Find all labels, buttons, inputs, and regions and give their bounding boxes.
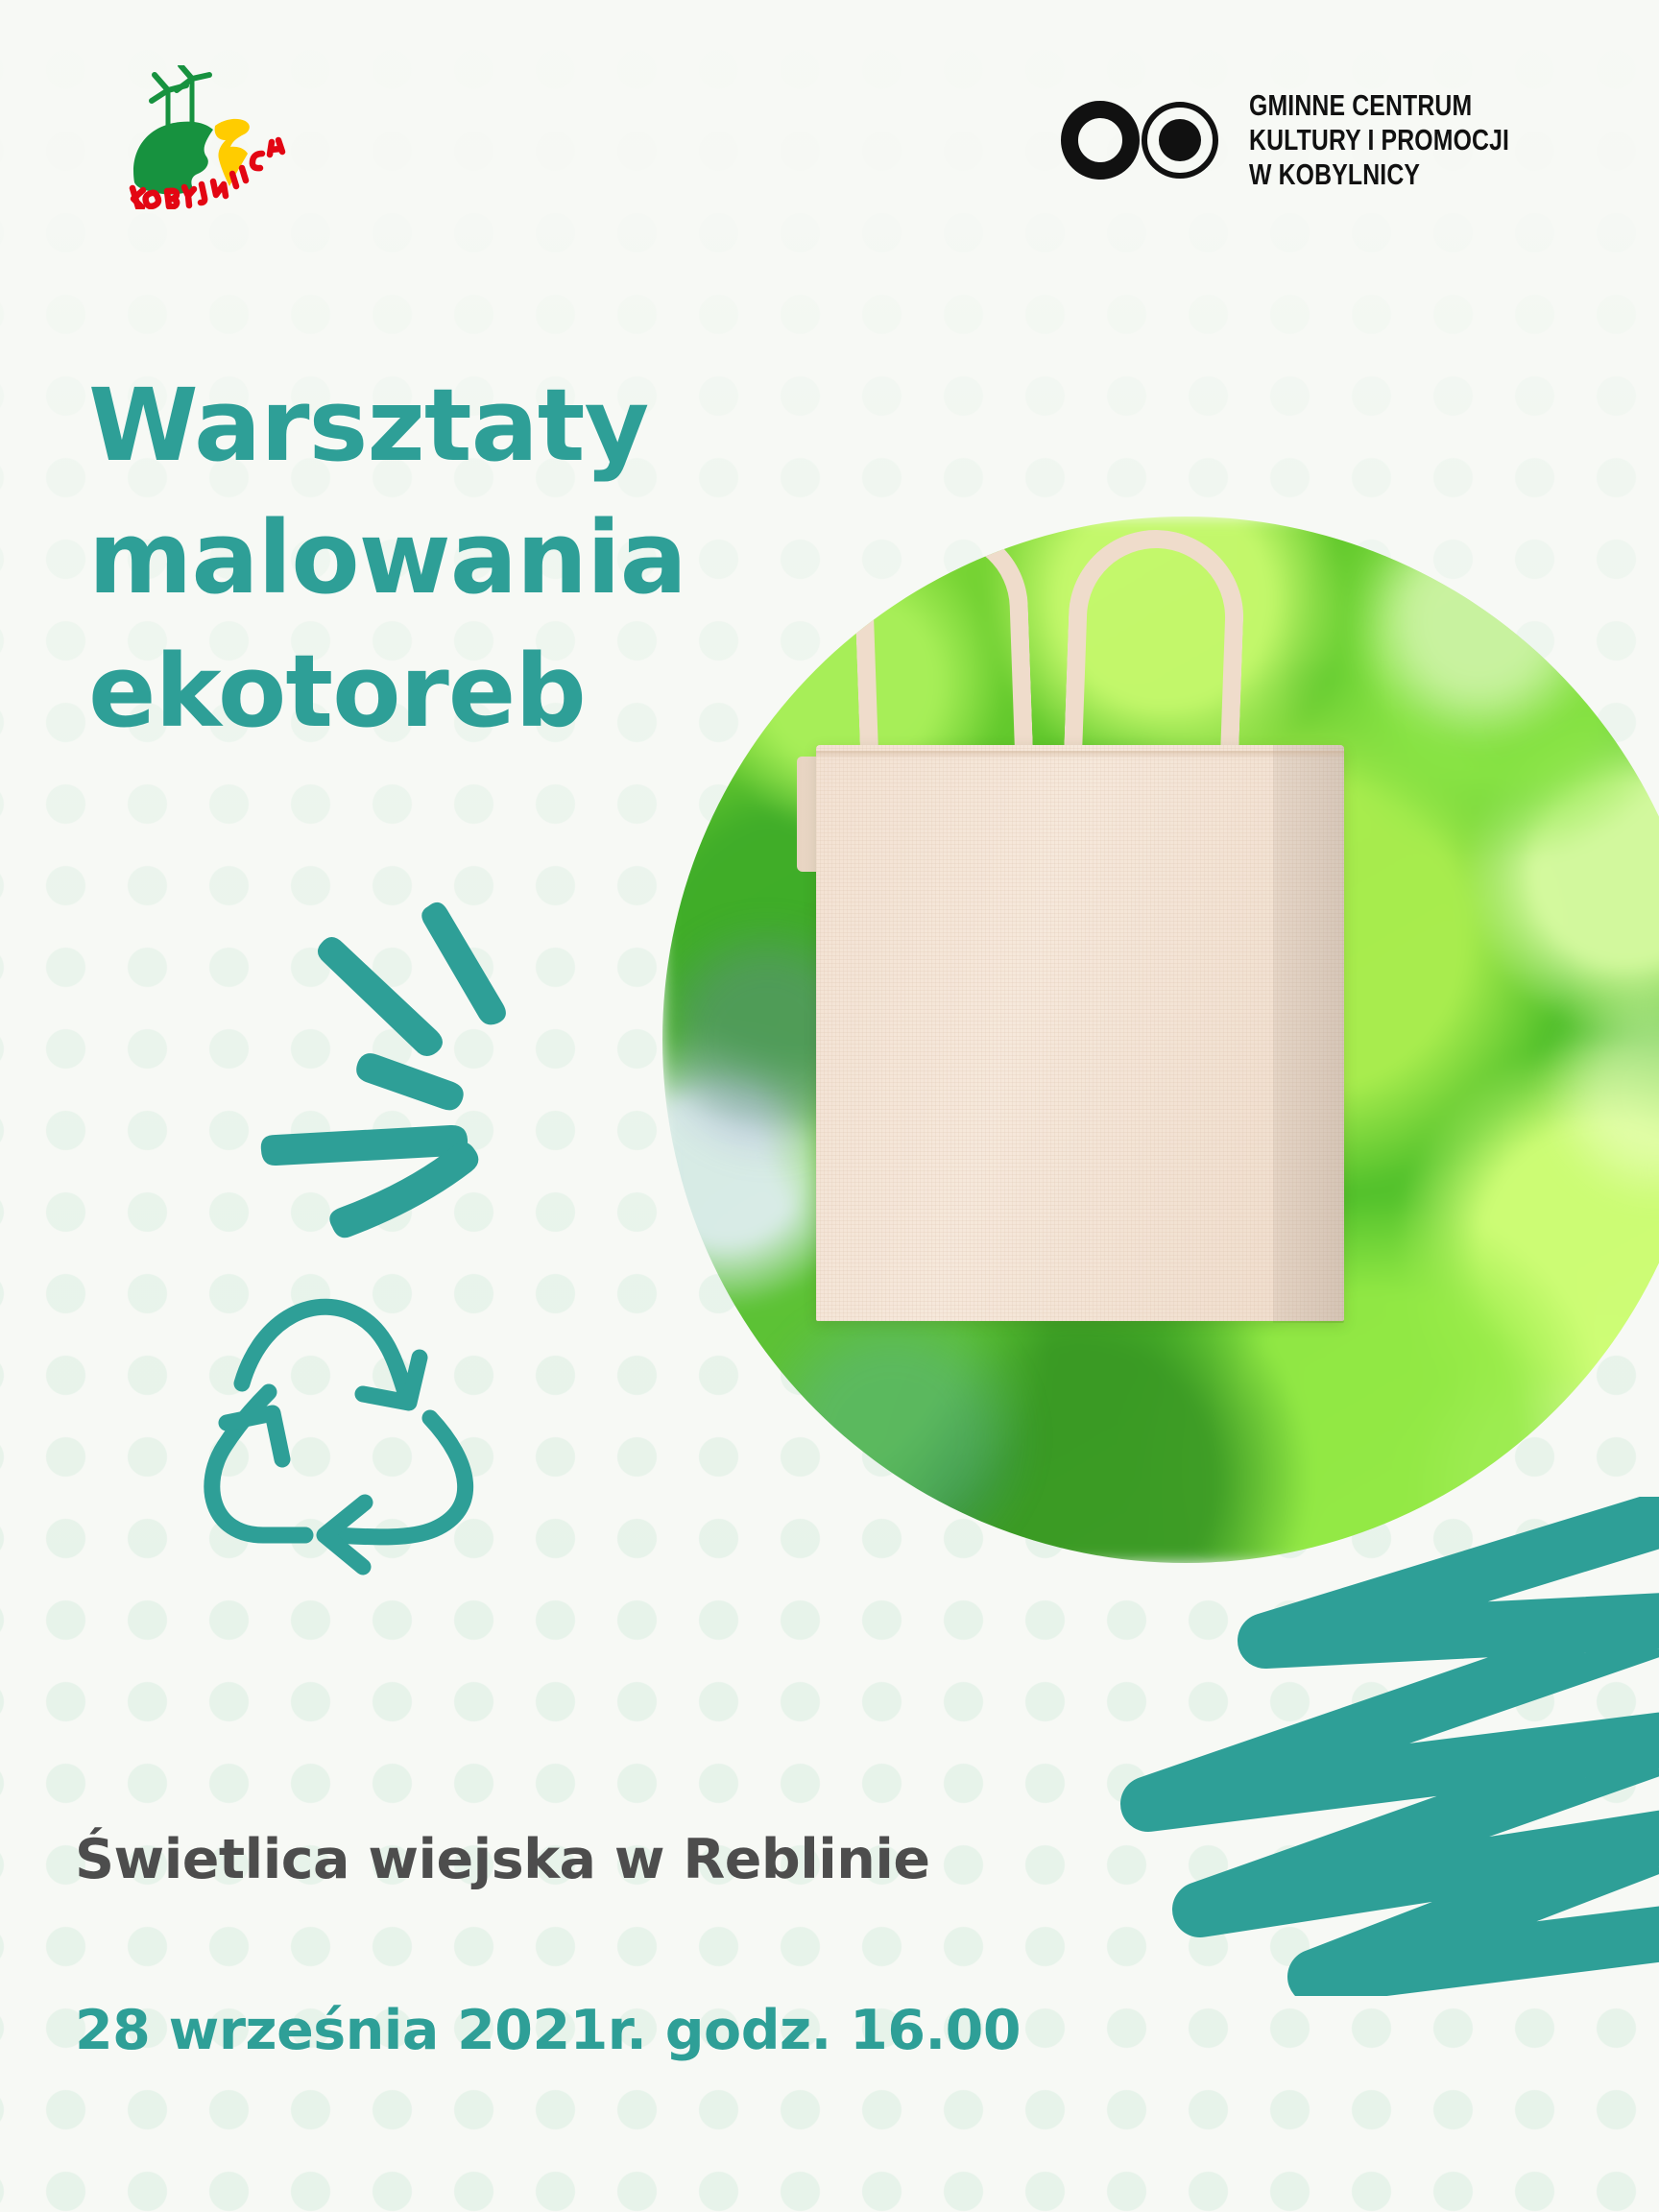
kobylnica-logo-icon: [113, 65, 305, 209]
bag-top-seam: [816, 751, 1344, 758]
gckip-logo-marks: [1061, 101, 1224, 180]
gckip-line-1: GMINNE CENTRUM: [1249, 88, 1509, 123]
gckip-line-2: KULTURY I PROMOCJI: [1249, 123, 1509, 157]
gckip-logo-text: GMINNE CENTRUM KULTURY I PROMOCJI W KOBY…: [1249, 88, 1575, 192]
datetime-text: 28 września 2021r. godz. 16.00: [75, 1999, 1021, 2062]
gckip-logo: GMINNE CENTRUM KULTURY I PROMOCJI W KOBY…: [1061, 88, 1575, 192]
two-circles-icon: [1061, 101, 1224, 180]
canvas-tote-bag: [806, 517, 1421, 1525]
headline-line-2: malowania: [88, 492, 837, 624]
burst-strokes: [240, 893, 624, 1238]
scribble-icon: [977, 1497, 1659, 1996]
page-title: Warsztaty malowania ekotoreb: [88, 359, 837, 757]
scribble-decoration: [977, 1497, 1659, 1996]
headline-line-3: ekotoreb: [88, 625, 837, 757]
filled-dot-icon: [1159, 119, 1201, 161]
bag-body: [816, 745, 1344, 1321]
poster-root: GMINNE CENTRUM KULTURY I PROMOCJI W KOBY…: [0, 0, 1659, 2212]
thick-ring-icon: [1070, 109, 1131, 171]
kobylnica-logo: [113, 65, 305, 209]
bag-gusset-shadow: [1273, 745, 1344, 1323]
headline-line-1: Warsztaty: [88, 359, 837, 492]
recycle-icon: [182, 1258, 509, 1584]
burst-strokes-icon: [240, 893, 624, 1238]
bag-handle-right: [1064, 527, 1246, 765]
bag-handle-left: [853, 519, 1034, 765]
venue-text: Świetlica wiejska w Reblinie: [75, 1828, 930, 1891]
gckip-line-3: W KOBYLNICY: [1249, 157, 1509, 192]
recycling-symbol: [182, 1258, 509, 1584]
